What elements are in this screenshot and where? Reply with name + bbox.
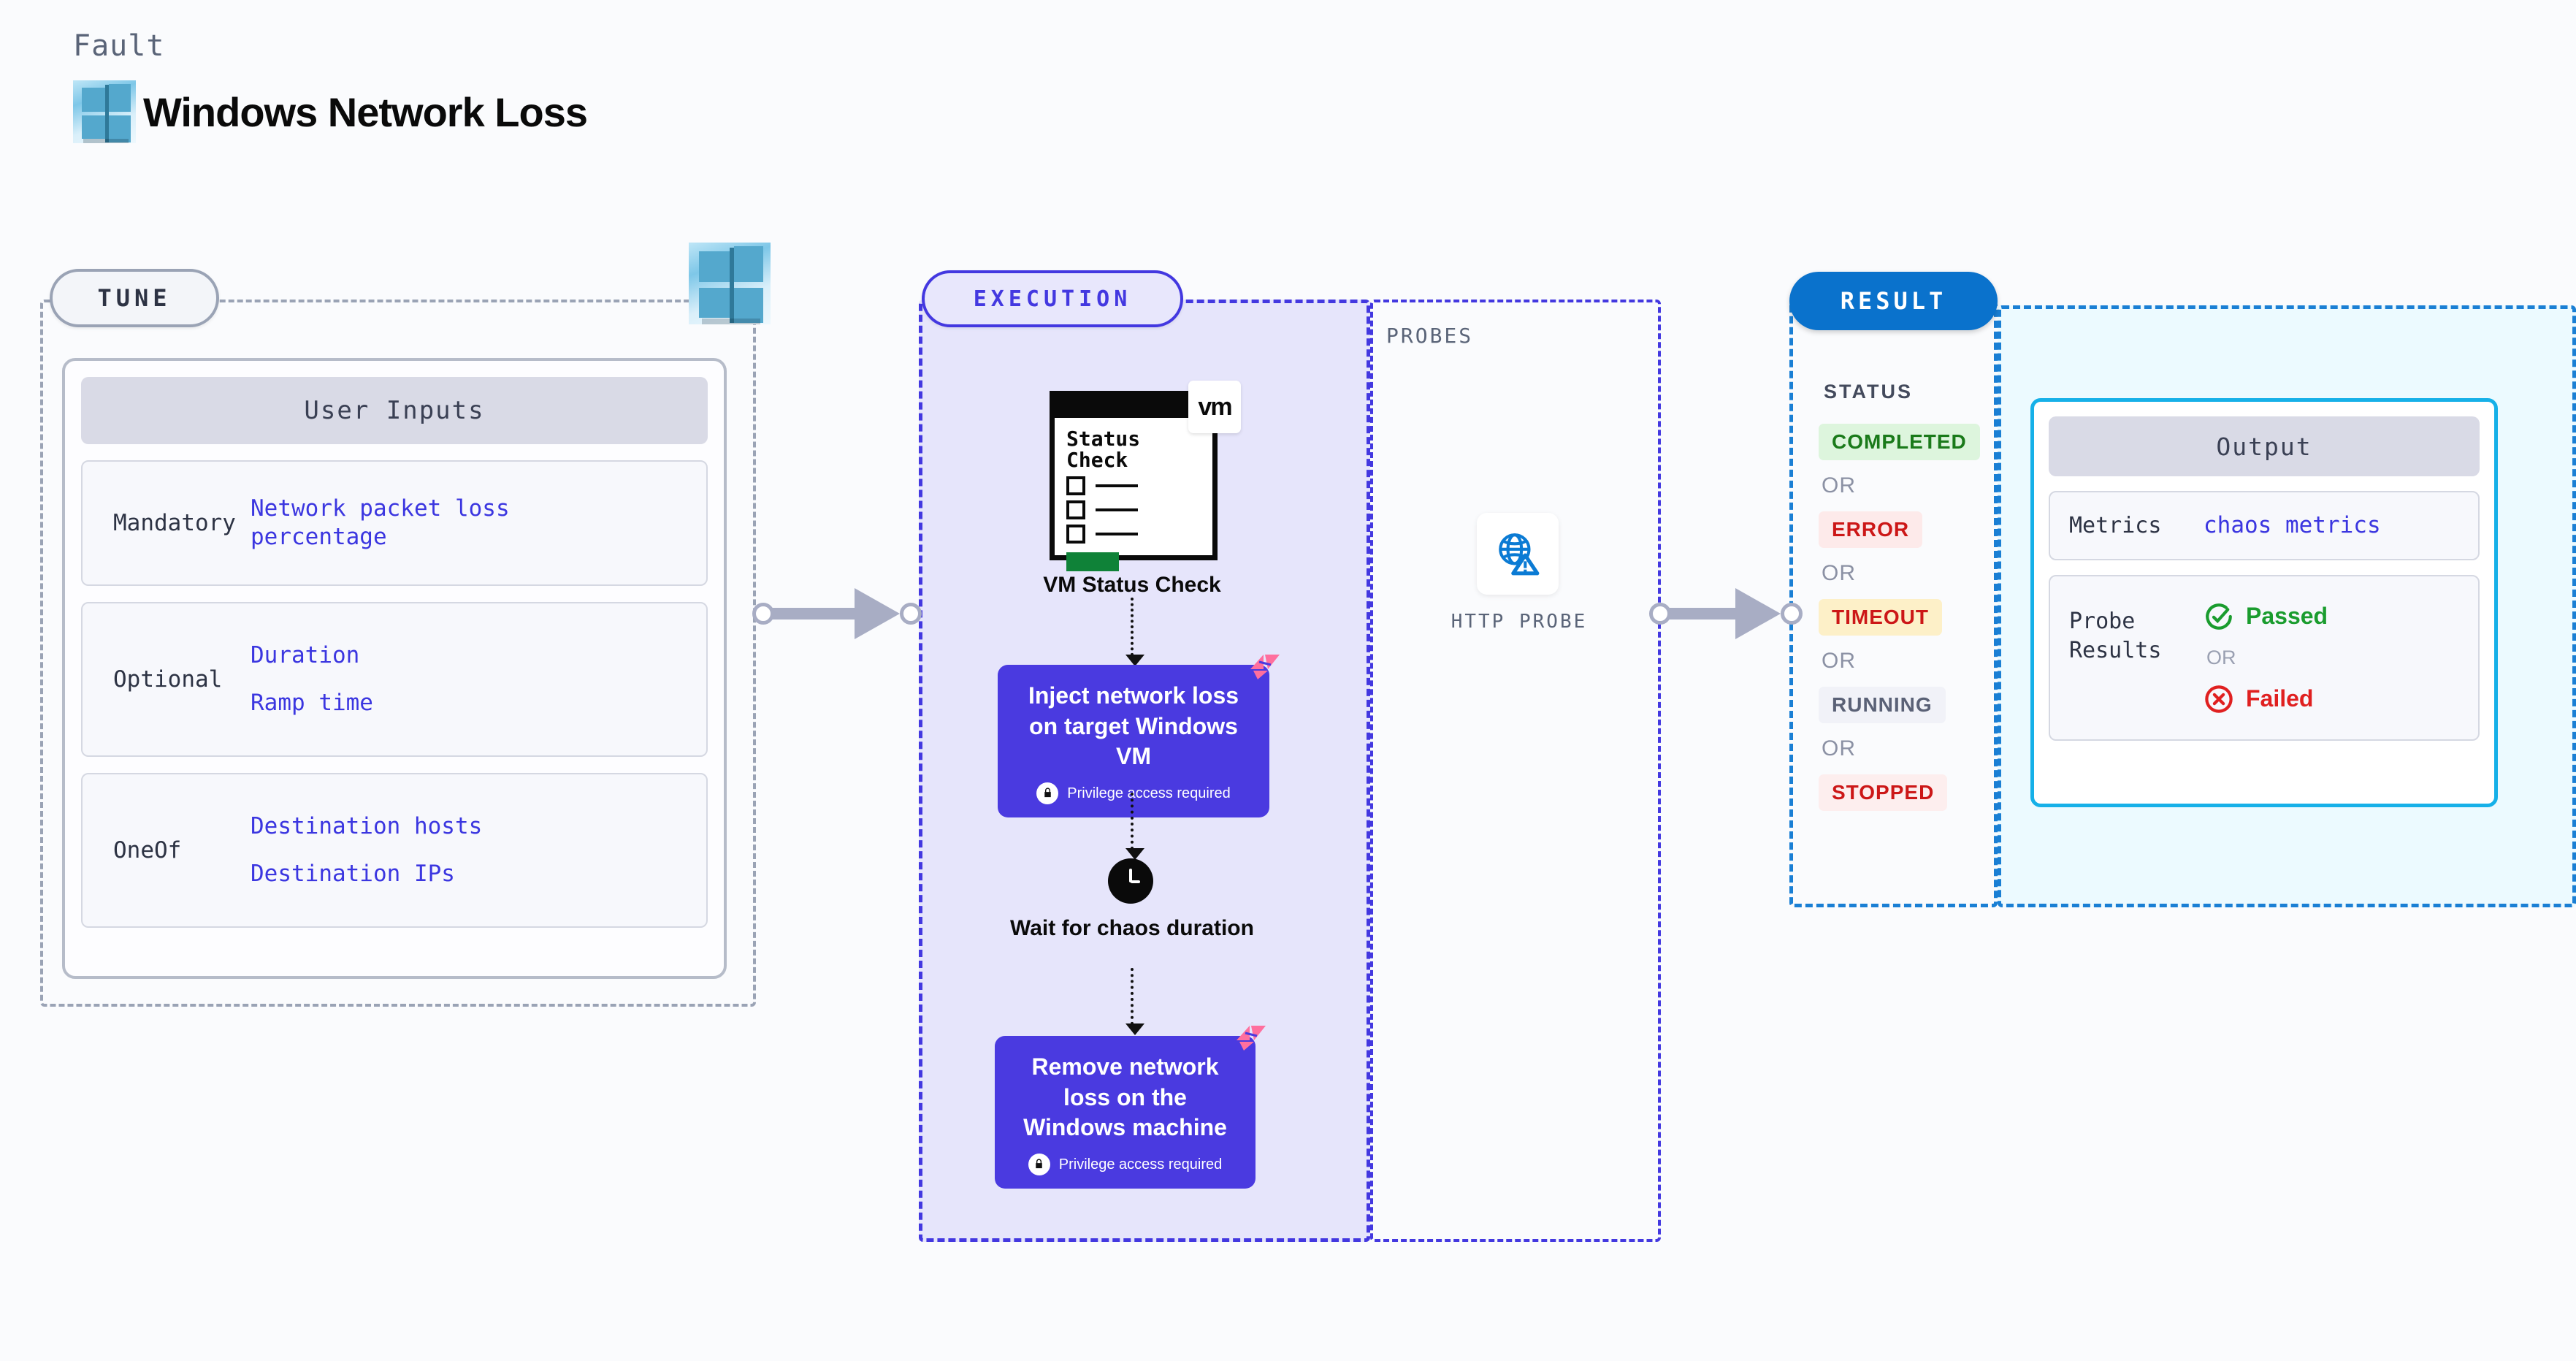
probe-result-failed: Failed: [2204, 684, 2478, 714]
clock-icon: [1108, 858, 1153, 904]
execution-node-remove[interactable]: Remove network loss on the Windows machi…: [995, 1036, 1255, 1189]
tune-value[interactable]: Duration: [251, 641, 557, 670]
probe-result-passed: Passed: [2204, 601, 2478, 632]
page-title: Windows Network Loss: [143, 88, 587, 136]
execution-node-inject[interactable]: Inject network loss on target Windows VM…: [998, 665, 1269, 817]
connector-end-dot: [1781, 603, 1803, 625]
connector-probes-to-result: [1649, 588, 1803, 639]
or-separator: OR: [1822, 473, 1987, 498]
http-probe-caption: HTTP PROBE: [1432, 611, 1607, 633]
privilege-note: Privilege access required: [1012, 782, 1255, 804]
status-badge-error: ERROR: [1819, 511, 1922, 548]
vm-status-check-label: VM Status Check: [949, 571, 1315, 599]
failed-text: Failed: [2246, 685, 2313, 712]
connector-start-dot: [752, 603, 774, 625]
node-label: Inject network loss on target Windows VM: [1028, 682, 1239, 769]
page-header: Fault Windows Network Loss: [73, 29, 587, 143]
status-badge-completed: COMPLETED: [1819, 424, 1980, 460]
tune-row-label: Optional: [83, 666, 251, 693]
status-badge-timeout: TIMEOUT: [1819, 599, 1942, 636]
list-line: [1096, 508, 1138, 511]
windows-logo-icon: [73, 80, 136, 143]
privilege-note-text: Privilege access required: [1067, 784, 1230, 803]
check-circle-icon: [2204, 601, 2234, 632]
flow-arrow-1: [1131, 598, 1134, 656]
connector-line: [1668, 608, 1743, 619]
progress-bar: [1066, 552, 1119, 571]
probe-results-label: Probe Results: [2050, 601, 2204, 666]
tune-row-label: Mandatory: [83, 510, 251, 536]
metrics-label: Metrics: [2050, 513, 2204, 538]
probes-section-label: PROBES: [1386, 324, 1473, 348]
wait-node-label: Wait for chaos duration: [1008, 915, 1256, 942]
status-badge-stopped: STOPPED: [1819, 774, 1947, 811]
checkbox-icon: [1066, 476, 1085, 495]
output-card: Output Metrics chaos metrics Probe Resul…: [2030, 398, 2498, 807]
tune-row-oneof: OneOf Destination hosts Destination IPs: [81, 773, 708, 928]
execution-node-wait: [1108, 858, 1153, 904]
checkbox-icon: [1066, 500, 1085, 519]
flow-arrow-2: [1131, 793, 1134, 850]
output-row-probe-results: Probe Results Passed OR Failed: [2049, 575, 2480, 741]
flow-arrow-3: [1131, 968, 1134, 1025]
tune-row-optional: Optional Duration Ramp time: [81, 602, 708, 757]
connector-arrowhead: [855, 588, 900, 639]
fault-kicker: Fault: [73, 29, 587, 63]
connector-end-dot: [900, 603, 922, 625]
status-label: STATUS: [1824, 381, 1913, 403]
tune-value[interactable]: Destination hosts: [251, 812, 557, 841]
output-card-title: Output: [2049, 416, 2480, 476]
list-line: [1096, 484, 1138, 487]
privilege-note: Privilege access required: [1009, 1154, 1241, 1175]
tune-user-inputs-card: User Inputs Mandatory Network packet los…: [62, 358, 727, 979]
connector-start-dot: [1649, 603, 1671, 625]
tune-value[interactable]: Ramp time: [251, 689, 557, 717]
litmus-chaos-icon: [1249, 653, 1281, 681]
tune-value[interactable]: Destination IPs: [251, 860, 557, 888]
tune-row-label: OneOf: [83, 837, 251, 864]
execution-pill: EXECUTION: [922, 270, 1183, 327]
privilege-note-text: Privilege access required: [1059, 1155, 1222, 1174]
or-separator: OR: [1822, 649, 1987, 674]
or-separator: OR: [1822, 736, 1987, 761]
status-list: COMPLETED OR ERROR OR TIMEOUT OR RUNNING…: [1819, 424, 1987, 811]
user-inputs-title: User Inputs: [81, 377, 708, 444]
litmus-chaos-icon: [1235, 1024, 1267, 1052]
probes-section: [1370, 300, 1661, 1242]
or-separator: OR: [1822, 561, 1987, 586]
lock-icon: [1028, 1154, 1050, 1175]
checkbox-icon: [1066, 525, 1085, 544]
globe-warning-icon: [1494, 530, 1542, 578]
status-badge-running: RUNNING: [1819, 687, 1946, 723]
lock-icon: [1036, 782, 1058, 804]
passed-text: Passed: [2246, 603, 2328, 630]
status-check-line2: Check: [1066, 449, 1212, 470]
connector-tune-to-execution: [752, 588, 922, 639]
tune-row-mandatory: Mandatory Network packet loss percentage: [81, 460, 708, 586]
or-separator: OR: [2206, 647, 2478, 669]
list-line: [1096, 533, 1138, 535]
node-label: Remove network loss on the Windows machi…: [1023, 1053, 1227, 1140]
http-probe-tile[interactable]: [1477, 513, 1559, 595]
tune-value[interactable]: Network packet loss percentage: [251, 495, 557, 552]
windows-logo-icon: [689, 243, 771, 324]
result-pill: RESULT: [1789, 272, 1998, 330]
vmware-logo-icon: vm: [1188, 381, 1241, 433]
x-circle-icon: [2204, 684, 2234, 714]
connector-line: [771, 608, 862, 619]
output-row-metrics: Metrics chaos metrics: [2049, 491, 2480, 560]
vm-status-check-icon: Status Check vm: [1050, 391, 1218, 560]
metrics-value[interactable]: chaos metrics: [2204, 511, 2478, 540]
connector-arrowhead: [1735, 588, 1781, 639]
tune-pill: TUNE: [50, 269, 219, 327]
